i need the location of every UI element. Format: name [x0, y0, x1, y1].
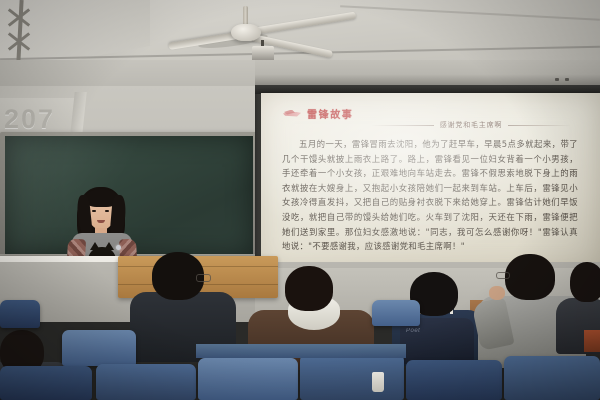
student-head — [285, 266, 333, 311]
backpack-text: Poet — [406, 328, 470, 334]
lecture-seat — [0, 366, 92, 400]
desk-front-panel — [196, 344, 406, 358]
lecture-seat — [62, 330, 136, 366]
water-cup — [372, 372, 384, 392]
glasses-icon — [196, 274, 211, 282]
slide-title-group: 雷锋故事 — [283, 106, 353, 121]
student-head — [505, 254, 555, 300]
lecture-seat — [300, 354, 404, 400]
presenter-eye — [92, 210, 96, 212]
student-head — [570, 262, 600, 302]
lecture-seat — [406, 360, 502, 400]
presenter-eye — [105, 210, 109, 212]
lecture-seat — [0, 300, 40, 328]
slide-subtitle-group: 感谢党和毛主席啊 — [371, 120, 571, 130]
lecture-seat — [372, 300, 420, 326]
red-flag-icon — [283, 109, 302, 119]
slide-title: 雷锋故事 — [307, 106, 353, 121]
student-hand — [489, 286, 505, 300]
lecture-seat — [96, 364, 196, 400]
rule-left — [371, 125, 434, 126]
glasses-icon — [496, 272, 510, 279]
classroom-photo: 207 合肥工业大学 HEFEI UNIVERSITY OF TECHNOLOG… — [0, 0, 600, 400]
book — [584, 330, 600, 352]
room-number-label: 207 — [4, 104, 74, 135]
slide-body-text: 五月的一天，雷锋冒雨去沈阳，他为了赶早车，早晨5点多就起来，带了几个干馒头就披上… — [282, 137, 578, 254]
rule-right — [508, 125, 571, 126]
lecture-seat — [504, 356, 600, 400]
slide-subtitle: 感谢党和毛主席啊 — [440, 120, 502, 130]
lecture-seat — [198, 358, 298, 400]
wall-beam — [255, 74, 600, 85]
lapel-pin — [116, 245, 121, 250]
projection-screen: 雷锋故事 感谢党和毛主席啊 五月的一天，雷锋冒雨去沈阳，他为了赶早车，早晨5点多… — [261, 93, 600, 271]
ceiling-fan-motor — [231, 24, 261, 41]
